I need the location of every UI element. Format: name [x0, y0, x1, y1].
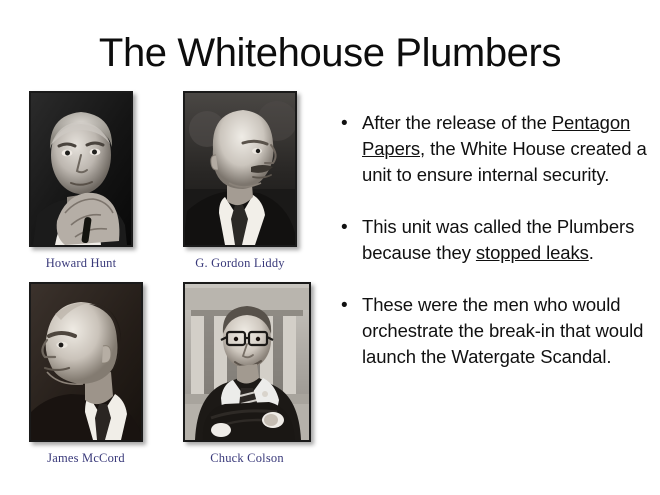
portrait-photo-howard-hunt — [31, 93, 131, 245]
portrait-photo-g-gordon-liddy — [185, 93, 295, 245]
bullet-list: • After the release of the Pentagon Pape… — [336, 110, 648, 396]
bullet-2-segment-2-underlined: stopped leaks — [476, 242, 589, 263]
photo-frame-chuck-colson — [183, 282, 311, 442]
bullet-marker-icon: • — [336, 214, 362, 241]
bullet-text-3: These were the men who would orchestrate… — [362, 292, 648, 370]
bullet-text-1: After the release of the Pentagon Papers… — [362, 110, 648, 188]
bullet-marker-icon: • — [336, 292, 362, 319]
photo-frame-howard-hunt — [29, 91, 133, 247]
slide-canvas: The Whitehouse Plumbers — [0, 0, 660, 495]
bullet-item-2: • This unit was called the Plumbers beca… — [336, 214, 648, 266]
page-title: The Whitehouse Plumbers — [0, 30, 660, 76]
photo-cell-g-gordon-liddy[interactable]: G. Gordon Liddy — [183, 91, 297, 271]
photo-caption-chuck-colson: Chuck Colson — [183, 451, 311, 466]
photo-cell-james-mccord[interactable]: James McCord — [29, 282, 143, 466]
bullet-3-segment-1: These were the men who would orchestrate… — [362, 294, 643, 367]
photo-caption-g-gordon-liddy: G. Gordon Liddy — [183, 256, 297, 271]
photo-caption-james-mccord: James McCord — [29, 451, 143, 466]
bullet-item-3: • These were the men who would orchestra… — [336, 292, 648, 370]
photo-frame-g-gordon-liddy — [183, 91, 297, 247]
photo-cell-howard-hunt[interactable]: Howard Hunt — [29, 91, 133, 271]
bullet-1-segment-1: After the release of the — [362, 112, 552, 133]
bullet-item-1: • After the release of the Pentagon Pape… — [336, 110, 648, 188]
portrait-photo-chuck-colson — [185, 284, 309, 440]
photo-cell-chuck-colson[interactable]: Chuck Colson — [183, 282, 311, 466]
bullet-text-2: This unit was called the Plumbers becaus… — [362, 214, 648, 266]
bullet-marker-icon: • — [336, 110, 362, 137]
bullet-2-segment-3: . — [589, 242, 594, 263]
portrait-photo-james-mccord — [31, 284, 141, 440]
photo-caption-howard-hunt: Howard Hunt — [29, 256, 133, 271]
photo-frame-james-mccord — [29, 282, 143, 442]
